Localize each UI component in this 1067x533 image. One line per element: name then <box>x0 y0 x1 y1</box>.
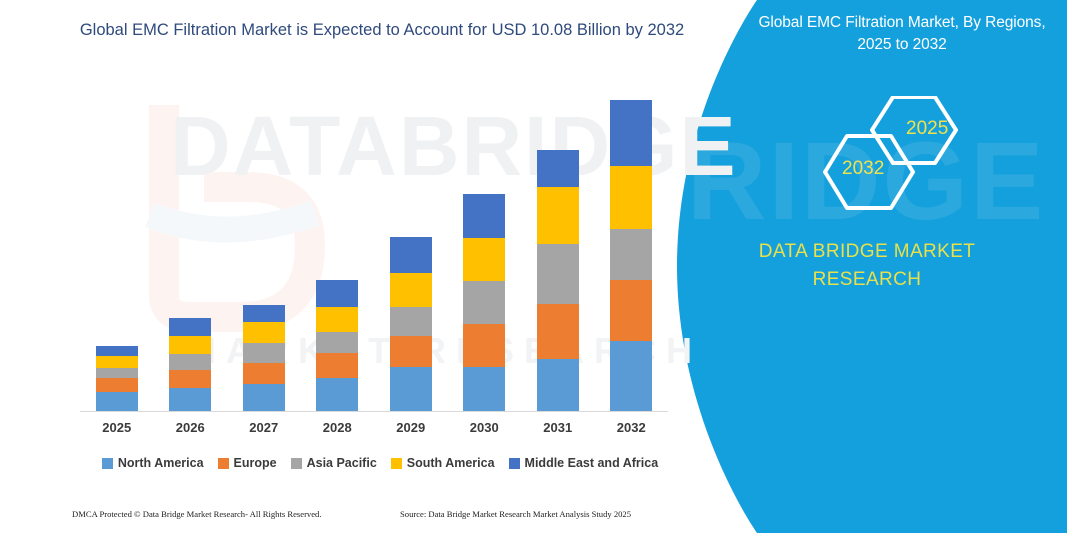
stacked-bar[interactable] <box>610 100 652 411</box>
x-axis-label: 2026 <box>154 420 228 435</box>
bar-segment[interactable] <box>169 388 211 411</box>
bar-segment[interactable] <box>316 307 358 332</box>
legend-swatch-icon <box>509 458 520 469</box>
legend-item-south-america[interactable]: South America <box>391 456 495 470</box>
bar-segment[interactable] <box>169 318 211 336</box>
stacked-bar[interactable] <box>243 305 285 411</box>
stacked-bar[interactable] <box>316 280 358 411</box>
legend-item-europe[interactable]: Europe <box>218 456 277 470</box>
x-axis-label: 2031 <box>521 420 595 435</box>
legend-item-north-america[interactable]: North America <box>102 456 204 470</box>
bar-segment[interactable] <box>96 392 138 411</box>
bar-segment[interactable] <box>169 370 211 388</box>
legend-swatch-icon <box>391 458 402 469</box>
bar-column-2027 <box>227 100 301 411</box>
bar-segment[interactable] <box>610 341 652 411</box>
stacked-bar[interactable] <box>96 346 138 411</box>
bar-segment[interactable] <box>463 281 505 325</box>
footer-copyright: DMCA Protected © Data Bridge Market Rese… <box>72 509 322 519</box>
x-axis-labels: 20252026202720282029203020312032 <box>80 420 668 435</box>
bar-segment[interactable] <box>243 363 285 384</box>
legend-swatch-icon <box>218 458 229 469</box>
bar-column-2031 <box>521 100 595 411</box>
bar-segment[interactable] <box>390 273 432 307</box>
bar-segment[interactable] <box>390 237 432 273</box>
stacked-bar[interactable] <box>537 150 579 411</box>
x-axis-label: 2025 <box>80 420 154 435</box>
legend-label: Asia Pacific <box>307 456 377 470</box>
bar-segment[interactable] <box>390 367 432 411</box>
bar-column-2025 <box>80 100 154 411</box>
x-axis-label: 2028 <box>301 420 375 435</box>
bar-segment[interactable] <box>96 356 138 368</box>
x-axis-label: 2030 <box>448 420 522 435</box>
bar-segment[interactable] <box>169 336 211 354</box>
hexagon-label-2032: 2032 <box>842 158 884 180</box>
bar-segment[interactable] <box>610 166 652 229</box>
page-title: Global EMC Filtration Market is Expected… <box>62 18 702 44</box>
footer: DMCA Protected © Data Bridge Market Rese… <box>0 509 700 529</box>
bar-segment[interactable] <box>463 194 505 238</box>
bar-segment[interactable] <box>96 378 138 392</box>
bar-segment[interactable] <box>610 229 652 280</box>
x-axis-label: 2029 <box>374 420 448 435</box>
stacked-bar[interactable] <box>390 237 432 411</box>
bar-segment[interactable] <box>537 359 579 411</box>
x-axis-line <box>80 411 668 412</box>
legend-label: Middle East and Africa <box>525 456 659 470</box>
legend-swatch-icon <box>291 458 302 469</box>
panel-title: Global EMC Filtration Market, By Regions… <box>752 12 1052 57</box>
panel-brand: DATA BRIDGE MARKET RESEARCH <box>707 238 1027 293</box>
bar-segment[interactable] <box>537 304 579 358</box>
panel-brand-line2: RESEARCH <box>707 266 1027 294</box>
bar-segment[interactable] <box>390 336 432 367</box>
bar-chart-plot <box>80 100 668 411</box>
legend-item-asia-pacific[interactable]: Asia Pacific <box>291 456 377 470</box>
panel-brand-line1: DATA BRIDGE MARKET <box>707 238 1027 266</box>
bar-segment[interactable] <box>463 324 505 367</box>
bar-segment[interactable] <box>316 378 358 411</box>
bar-segment[interactable] <box>537 187 579 244</box>
bar-segment[interactable] <box>316 353 358 378</box>
x-axis-label: 2032 <box>595 420 669 435</box>
bar-segment[interactable] <box>169 354 211 369</box>
stacked-bar[interactable] <box>169 318 211 411</box>
bar-segment[interactable] <box>96 368 138 378</box>
bar-segment[interactable] <box>537 150 579 187</box>
footer-source: Source: Data Bridge Market Research Mark… <box>400 509 631 519</box>
bar-segment[interactable] <box>243 343 285 362</box>
infographic-canvas: DATABRIDGE MARKET RESEARCH Global EMC Fi… <box>0 0 1067 533</box>
stacked-bar[interactable] <box>463 194 505 411</box>
bar-segment[interactable] <box>96 346 138 356</box>
bar-segment[interactable] <box>610 100 652 166</box>
right-panel-content: RIDGE Global EMC Filtration Market, By R… <box>667 0 1067 533</box>
bar-column-2030 <box>448 100 522 411</box>
bar-segment[interactable] <box>243 384 285 411</box>
bar-column-2028 <box>301 100 375 411</box>
legend-item-middle-east-and-africa[interactable]: Middle East and Africa <box>509 456 659 470</box>
bar-segment[interactable] <box>537 244 579 304</box>
bar-segment[interactable] <box>463 238 505 281</box>
bar-segment[interactable] <box>243 322 285 343</box>
hexagon-label-2025: 2025 <box>906 118 948 140</box>
legend-label: Europe <box>234 456 277 470</box>
bar-segment[interactable] <box>316 280 358 307</box>
bar-segment[interactable] <box>390 307 432 336</box>
legend-swatch-icon <box>102 458 113 469</box>
legend-label: South America <box>407 456 495 470</box>
bar-segment[interactable] <box>316 332 358 353</box>
bar-segment[interactable] <box>610 280 652 342</box>
bar-column-2029 <box>374 100 448 411</box>
bar-segment[interactable] <box>243 305 285 323</box>
bar-column-2026 <box>154 100 228 411</box>
bar-segment[interactable] <box>463 367 505 411</box>
chart-legend: North AmericaEuropeAsia PacificSouth Ame… <box>80 456 680 470</box>
bar-column-2032 <box>595 100 669 411</box>
x-axis-label: 2027 <box>227 420 301 435</box>
legend-label: North America <box>118 456 204 470</box>
